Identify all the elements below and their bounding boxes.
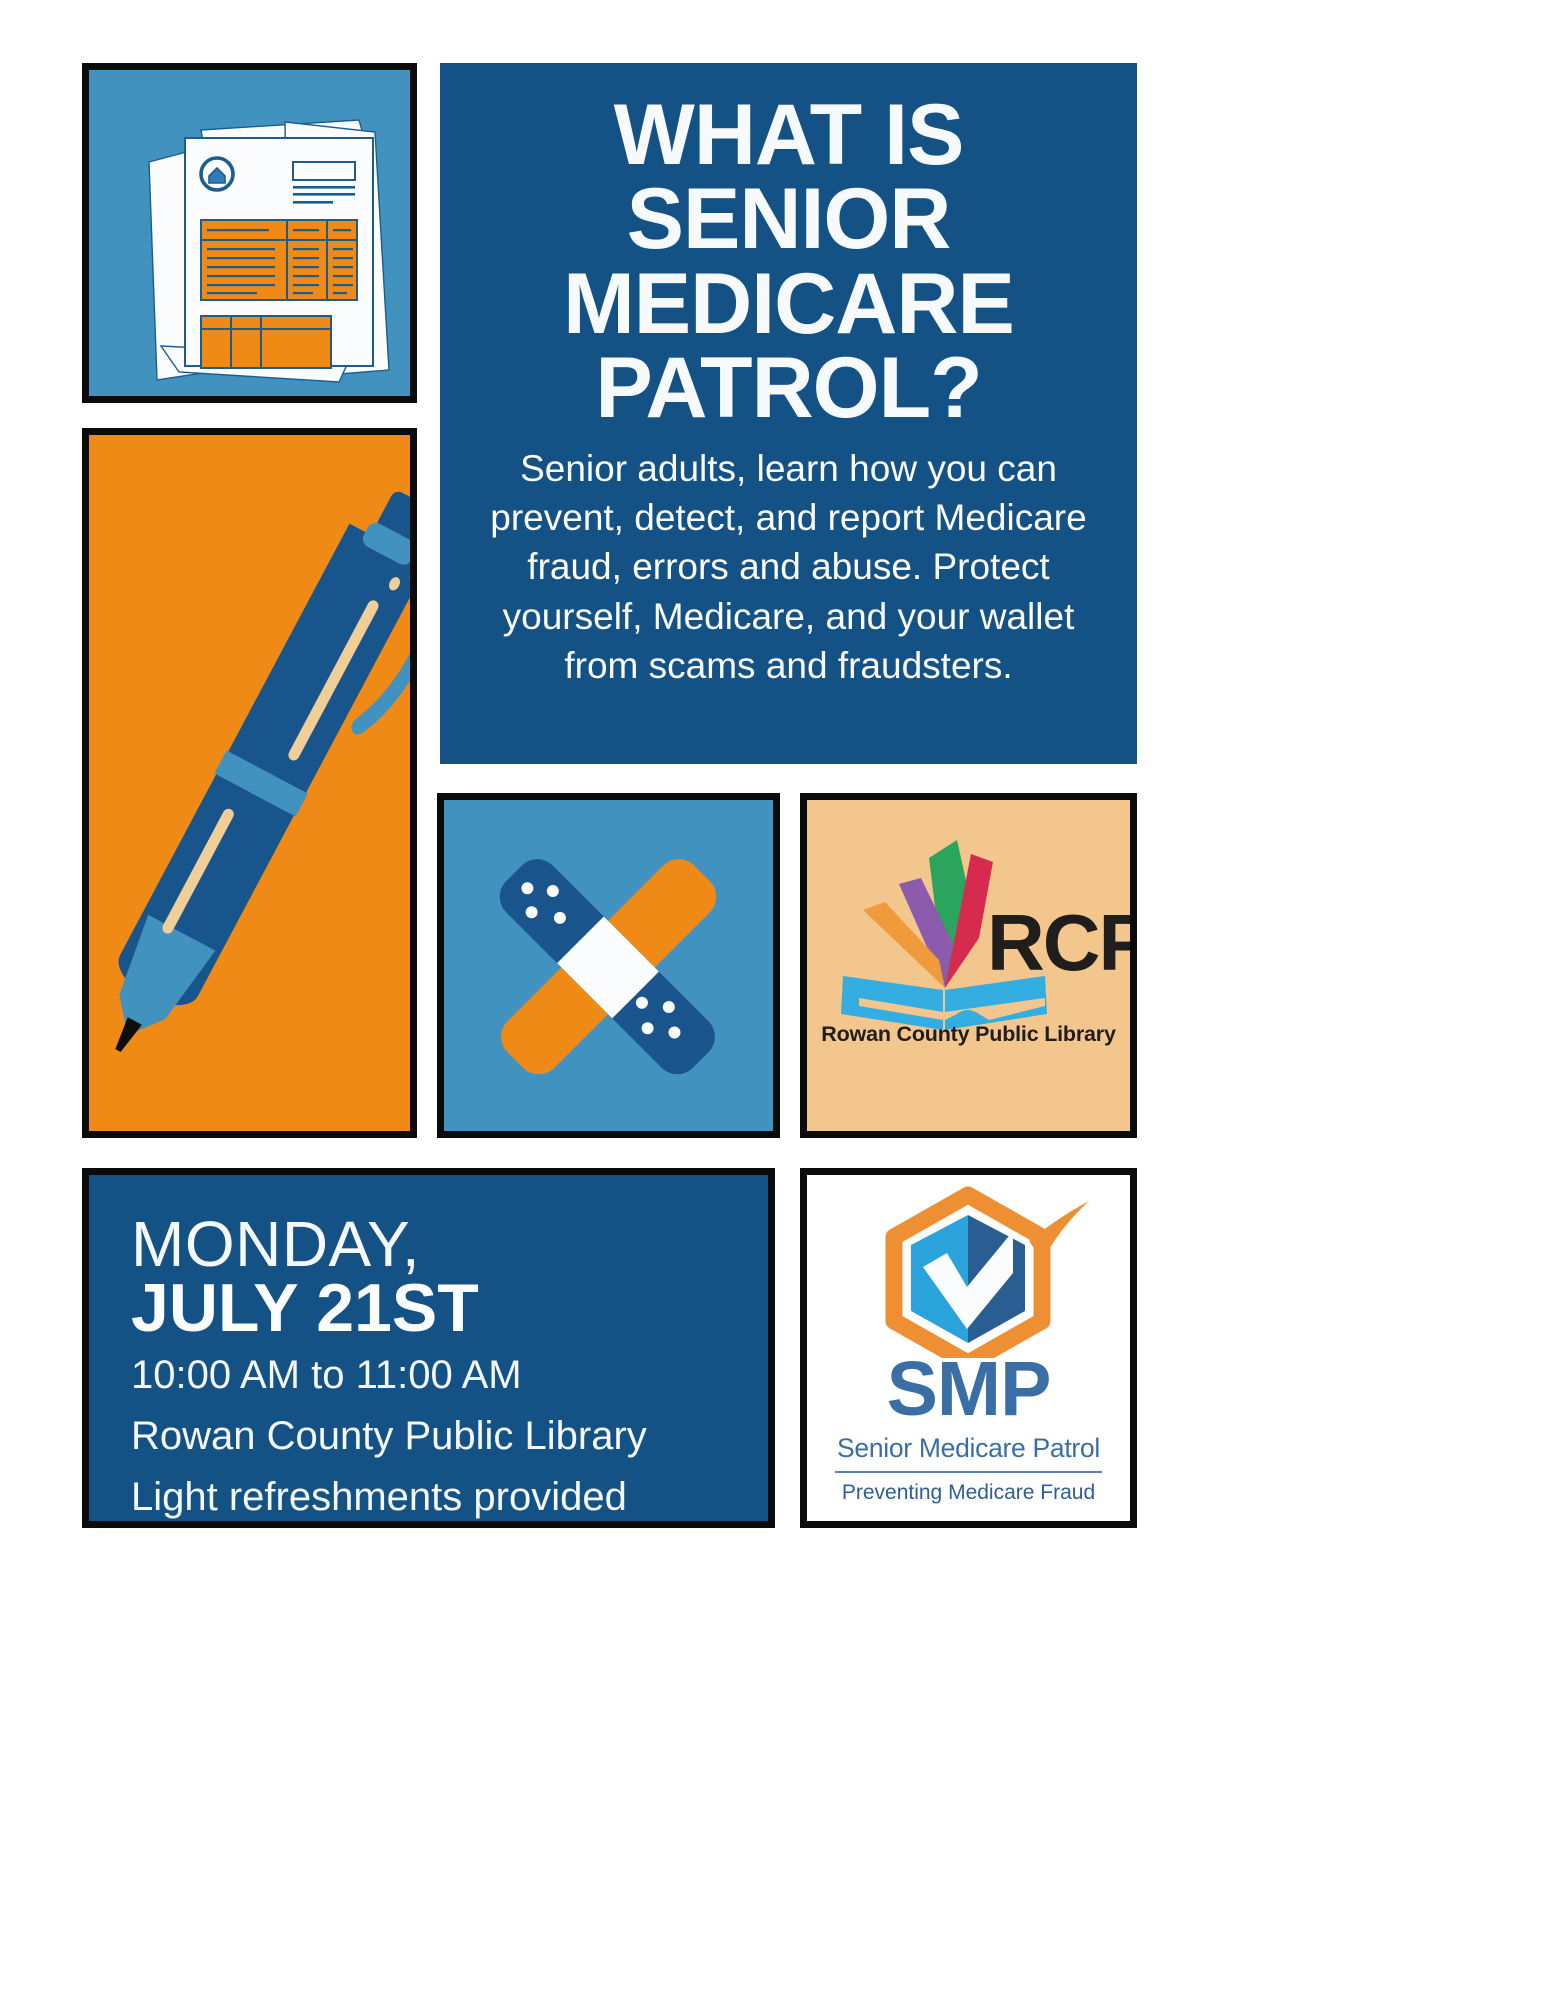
library-logo-panel: RCPL Rowan County Public Library	[800, 793, 1137, 1138]
crossed-bandages-illustration	[444, 800, 773, 1131]
smp-tagline: Preventing Medicare Fraud	[807, 1481, 1130, 1505]
smp-shield-icon	[807, 1183, 1130, 1358]
smp-name: Senior Medicare Patrol	[807, 1433, 1130, 1464]
body-paragraph: Senior adults, learn how you can prevent…	[440, 430, 1137, 690]
smp-acronym: SMP	[807, 1351, 1130, 1428]
headline-panel: WHAT IS SENIOR MEDICARE PATROL? Senior a…	[440, 63, 1137, 764]
event-day: MONDAY,	[131, 1213, 768, 1276]
bandage-illustration-panel	[437, 793, 780, 1138]
page-title: WHAT IS SENIOR MEDICARE PATROL?	[440, 63, 1137, 430]
documents-illustration	[89, 70, 410, 396]
documents-illustration-panel	[82, 63, 417, 403]
event-note: Light refreshments provided	[131, 1470, 768, 1525]
library-name: Rowan County Public Library	[807, 1022, 1130, 1047]
rcpl-logo-mark: RCPL	[807, 800, 1130, 1050]
event-time: 10:00 AM to 11:00 AM	[131, 1348, 768, 1403]
flyer-poster: WHAT IS SENIOR MEDICARE PATROL? Senior a…	[0, 0, 1545, 2000]
event-date: JULY 21ST	[131, 1274, 768, 1342]
event-details-panel: MONDAY, JULY 21ST 10:00 AM to 11:00 AM R…	[82, 1168, 775, 1528]
pen-illustration	[89, 435, 410, 1131]
smp-divider	[835, 1471, 1102, 1473]
pen-illustration-panel	[82, 428, 417, 1138]
event-location: Rowan County Public Library	[131, 1409, 768, 1464]
svg-text:RCPL: RCPL	[987, 898, 1130, 987]
smp-logo-panel: SMP Senior Medicare Patrol Preventing Me…	[800, 1168, 1137, 1528]
